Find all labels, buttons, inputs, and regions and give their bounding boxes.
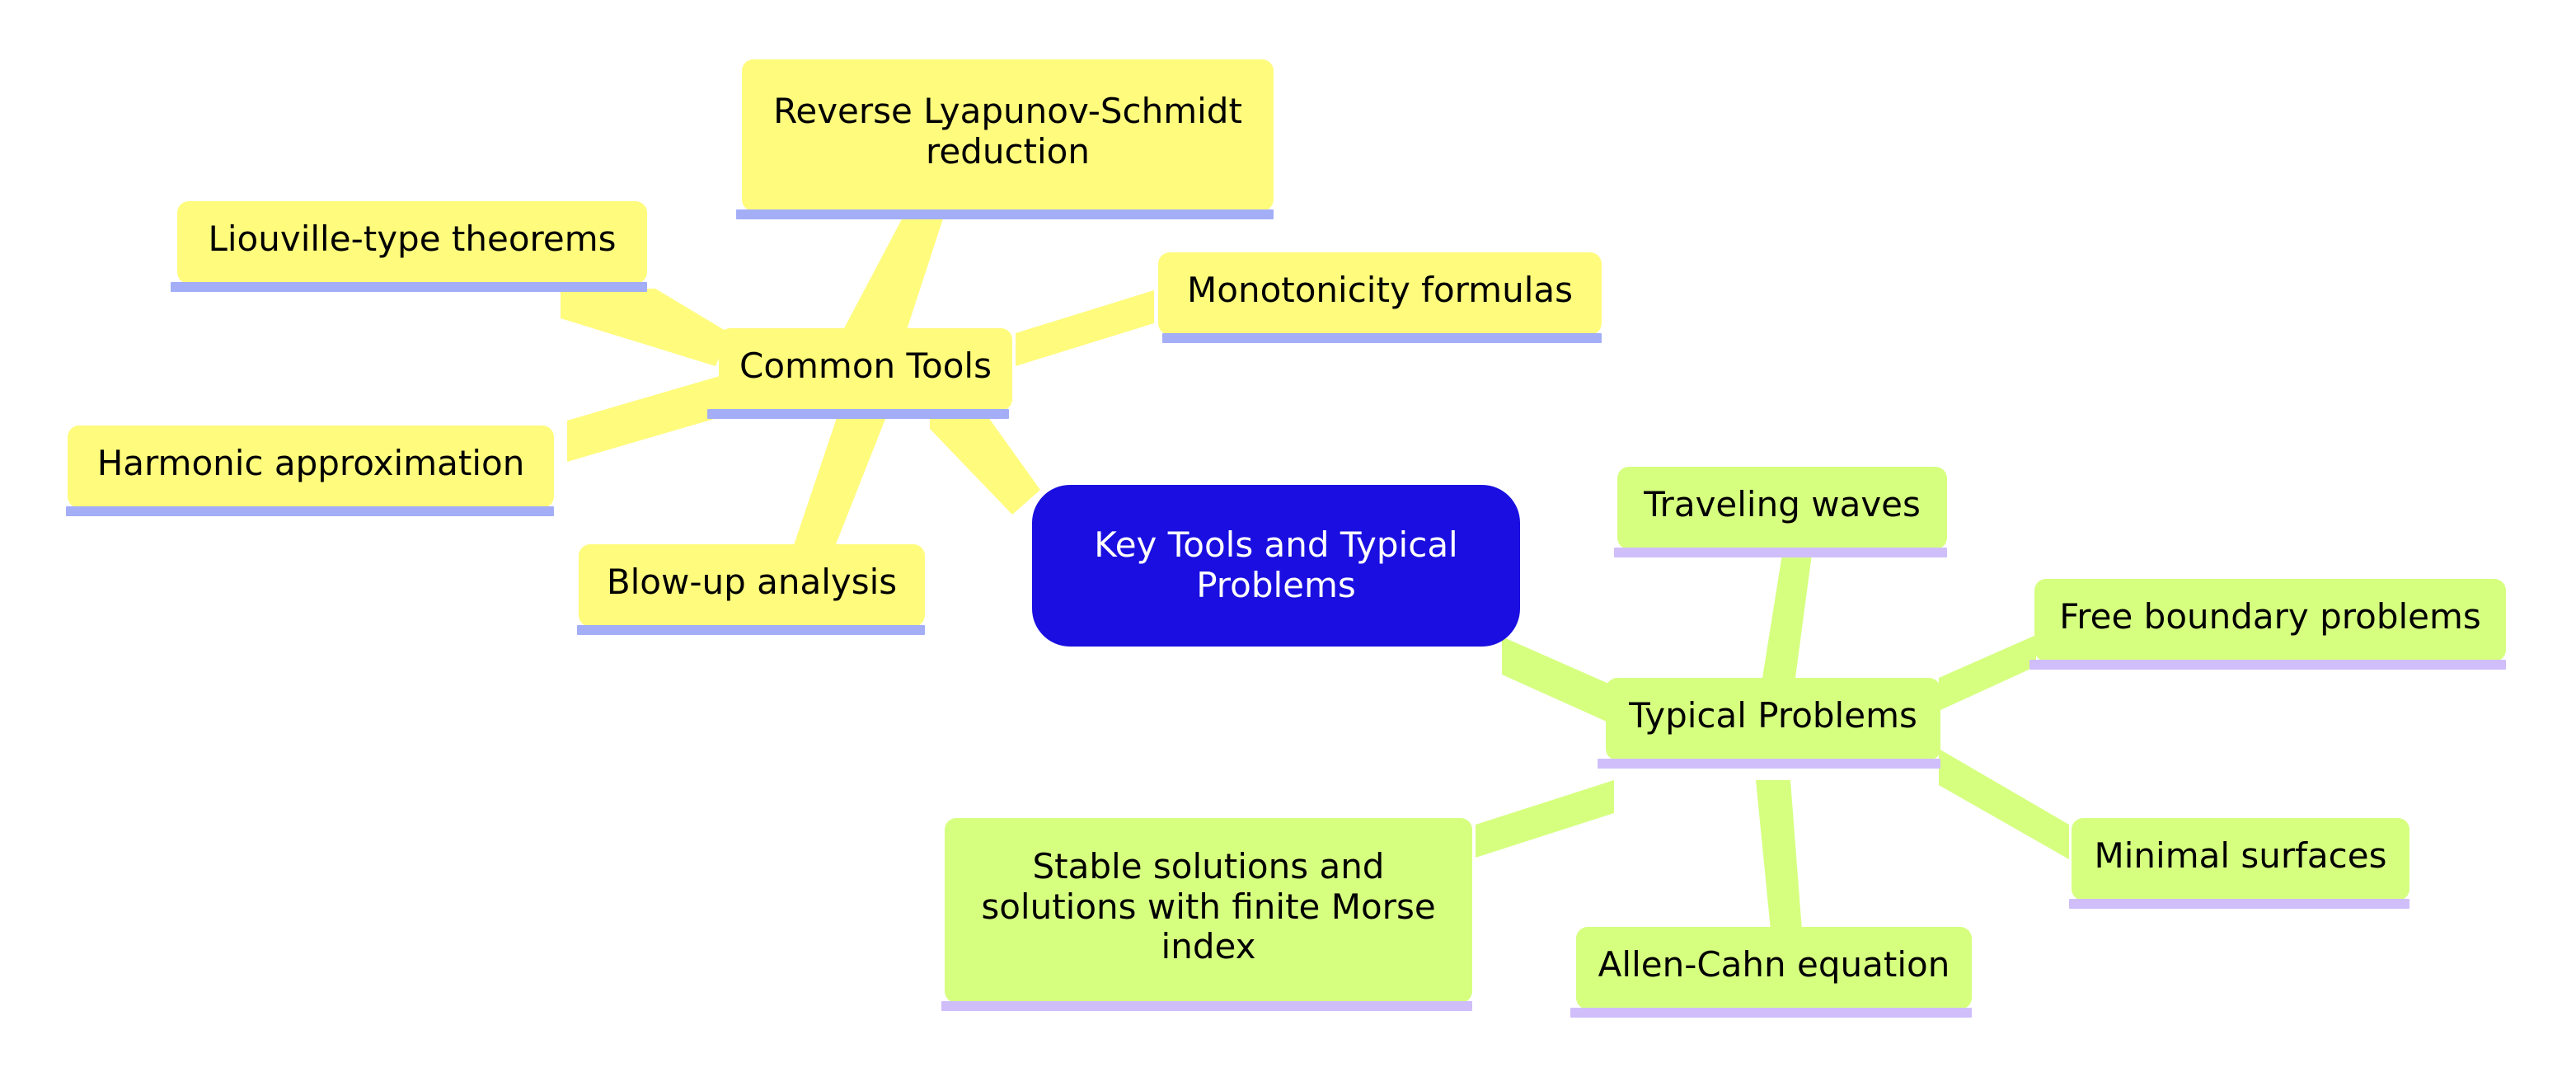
node-liouville-type-theorems[interactable]: Liouville-type theorems [177, 201, 647, 284]
edge-typical-to-free-boundary [1939, 635, 2036, 711]
edge-common-tools-to-monotonicity [1016, 290, 1154, 366]
node-traveling-waves[interactable]: Traveling waves [1617, 467, 1947, 549]
node-reverse-lyapunov-schmidt-reduction[interactable]: Reverse Lyapunov-Schmidt reduction [742, 59, 1274, 211]
underline-liouville-type-theorems [171, 282, 647, 292]
hub-node-common-tools-label: Common Tools [737, 346, 994, 387]
node-minimal-surfaces-label: Minimal surfaces [2090, 836, 2391, 877]
node-monotonicity-formulas-label: Monotonicity formulas [1176, 270, 1584, 311]
node-allen-cahn-equation[interactable]: Allen-Cahn equation [1576, 927, 1972, 1009]
edge-common-tools-to-liouville [561, 289, 730, 366]
underline-allen-cahn-equation [1570, 1008, 1972, 1018]
edge-typical-to-stable-solutions [1476, 780, 1614, 858]
node-stable-solutions-finite-morse-index-label: Stable solutions and solutions with fini… [963, 847, 1454, 967]
node-harmonic-approximation[interactable]: Harmonic approximation [68, 426, 554, 508]
node-allen-cahn-equation-label: Allen-Cahn equation [1594, 945, 1954, 985]
edge-center-to-common-tools [930, 402, 1040, 515]
node-liouville-type-theorems-label: Liouville-type theorems [195, 219, 629, 260]
node-monotonicity-formulas[interactable]: Monotonicity formulas [1158, 252, 1602, 335]
edge-typical-to-allen-cahn [1756, 780, 1802, 930]
node-minimal-surfaces[interactable]: Minimal surfaces [2072, 818, 2409, 901]
edge-typical-to-minimal [1939, 749, 2069, 859]
hub-node-typical-problems[interactable]: Typical Problems [1606, 678, 1940, 760]
edge-typical-to-traveling [1762, 554, 1812, 678]
node-blow-up-analysis-label: Blow-up analysis [597, 562, 907, 603]
node-stable-solutions-finite-morse-index[interactable]: Stable solutions and solutions with fini… [945, 818, 1472, 1003]
node-blow-up-analysis[interactable]: Blow-up analysis [579, 544, 925, 627]
edge-common-tools-to-blowup [791, 411, 889, 553]
center-node[interactable]: Key Tools and Typical Problems [1032, 485, 1520, 647]
underline-blow-up-analysis [577, 625, 925, 635]
mindmap-canvas: Key Tools and Typical Problems Common To… [0, 0, 2576, 1091]
edge-common-tools-to-harmonic [567, 374, 725, 462]
underline-harmonic-approximation [66, 506, 554, 516]
underline-monotonicity-formulas [1162, 333, 1602, 343]
edge-common-tools-to-reverse-ls [843, 216, 944, 330]
hub-node-common-tools[interactable]: Common Tools [719, 328, 1012, 411]
node-free-boundary-problems-label: Free boundary problems [2053, 597, 2488, 637]
underline-free-boundary-problems [2029, 660, 2506, 670]
node-harmonic-approximation-label: Harmonic approximation [86, 444, 536, 484]
node-traveling-waves-label: Traveling waves [1635, 485, 1929, 525]
center-node-label: Key Tools and Typical Problems [1053, 525, 1499, 605]
underline-stable-solutions-finite-morse-index [941, 1001, 1472, 1011]
node-reverse-lyapunov-schmidt-reduction-label: Reverse Lyapunov-Schmidt reduction [760, 92, 1255, 172]
node-free-boundary-problems[interactable]: Free boundary problems [2034, 579, 2506, 661]
underline-minimal-surfaces [2069, 899, 2409, 909]
underline-reverse-lyapunov-schmidt-reduction [736, 209, 1274, 219]
underline-traveling-waves [1614, 548, 1947, 557]
underline-typical-problems [1598, 759, 1940, 769]
underline-common-tools [707, 409, 1009, 419]
hub-node-typical-problems-label: Typical Problems [1624, 696, 1922, 736]
